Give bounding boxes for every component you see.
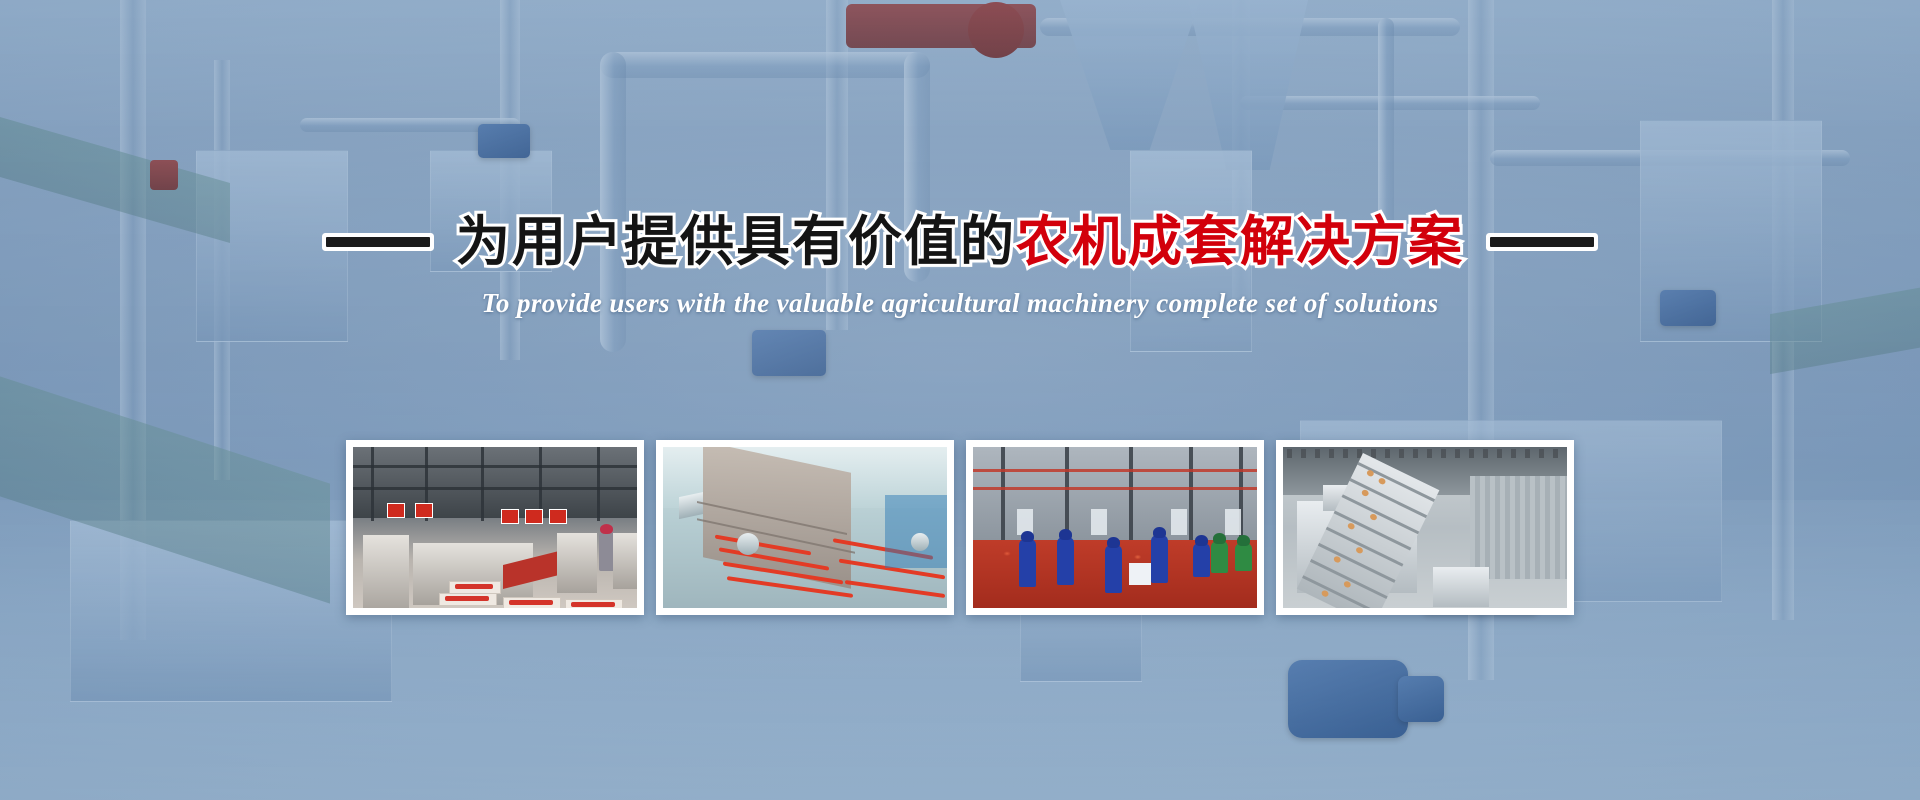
potato (1377, 477, 1386, 485)
white-sack (1129, 563, 1151, 585)
headline-row: 为用户提供具有价值的农机成套解决方案 (0, 206, 1920, 278)
drive-pulley (737, 533, 759, 555)
worker (1019, 539, 1036, 587)
red-roof-beam (973, 469, 1257, 472)
potato (1365, 469, 1374, 477)
stacked-trays (557, 533, 597, 593)
headline-text-dark: 为用户提供具有价值的 (456, 212, 1016, 272)
roof-truss (597, 447, 600, 521)
window (1225, 509, 1241, 535)
conveyor-slat (1302, 576, 1380, 608)
wall-sign (525, 509, 543, 524)
potato (1355, 547, 1364, 555)
headline-text-red: 农机成套解决方案 (1016, 212, 1464, 272)
thumbnail-image (973, 447, 1257, 608)
worker (1105, 545, 1122, 593)
steel-post (1001, 447, 1005, 544)
wall-sign (501, 509, 519, 524)
decorative-dash-right (1490, 237, 1594, 247)
potato (1360, 489, 1369, 497)
potato (1320, 590, 1329, 598)
potato (1369, 513, 1378, 521)
warehouse-interior (973, 447, 1257, 540)
worker (1211, 541, 1228, 573)
chili-row (845, 580, 945, 598)
goji-berries (445, 596, 489, 601)
support-frame (1433, 567, 1489, 607)
thumbnail-image (663, 447, 947, 608)
hero-banner: 为用户提供具有价值的农机成套解决方案 To provide users with… (0, 0, 1920, 800)
conveyor-slat (1349, 479, 1427, 519)
window (1091, 509, 1107, 535)
hero-content: 为用户提供具有价值的农机成套解决方案 To provide users with… (0, 0, 1920, 800)
potato (1342, 581, 1351, 589)
thumbnail-incline-conveyor-potato-line[interactable] (1276, 440, 1574, 615)
roof-beam (353, 487, 637, 490)
roof-truss (371, 447, 374, 521)
drive-pulley (911, 533, 929, 551)
wall-sign (387, 503, 405, 518)
corrugated-wall (1470, 476, 1567, 579)
steel-post (1129, 447, 1133, 544)
worker (1057, 537, 1074, 585)
goji-berries (455, 584, 493, 589)
thumbnail-belt-dryer-chili-line[interactable] (656, 440, 954, 615)
page-subtitle: To provide users with the valuable agric… (0, 288, 1920, 319)
worker (1193, 543, 1210, 577)
roof-beam (353, 465, 637, 468)
steel-post (1189, 447, 1193, 544)
decorative-dash-left (326, 237, 430, 247)
potato (1346, 522, 1355, 530)
roof-truss (481, 447, 484, 521)
blue-wall-panel (885, 495, 947, 567)
red-roof-beam (973, 487, 1257, 490)
goji-berries (571, 602, 615, 607)
potato (1332, 556, 1341, 564)
goji-berries (509, 600, 553, 605)
wall-sign (415, 503, 433, 518)
thumbnail-workers-drying-chili-hall[interactable] (966, 440, 1264, 615)
worker (1151, 535, 1168, 583)
worker (1235, 543, 1252, 571)
rack (363, 535, 409, 608)
window (1171, 509, 1187, 535)
thumbnail-gallery (0, 440, 1920, 615)
thumbnail-image (353, 447, 637, 608)
stacked-trays (613, 533, 637, 589)
overlay-caption-strip (1287, 449, 1563, 458)
thumbnail-goji-drying-workshop[interactable] (346, 440, 644, 615)
wall-sign (549, 509, 567, 524)
thumbnail-image (1283, 447, 1567, 608)
page-title: 为用户提供具有价值的农机成套解决方案 (456, 215, 1464, 269)
